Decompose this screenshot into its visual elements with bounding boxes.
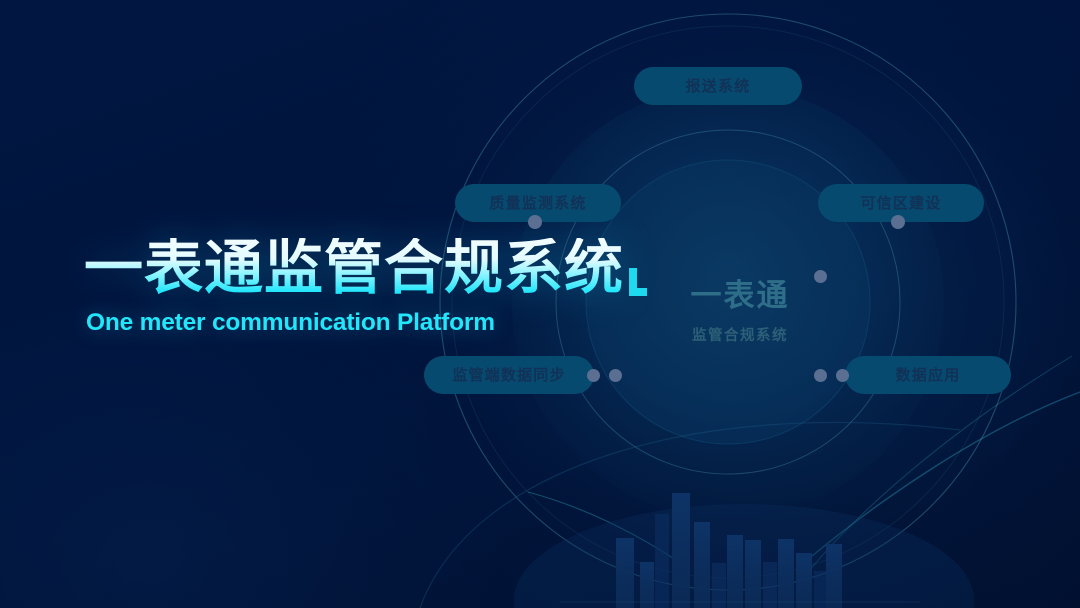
connector-dot-sync-outer — [587, 369, 600, 382]
connector-dot-hub-upper-right — [814, 270, 827, 283]
node-pill-quality-label: 质量监测系统 — [489, 196, 586, 211]
node-pill-sync-label: 监管端数据同步 — [452, 368, 565, 383]
connector-dot-dataapp-inner — [814, 369, 827, 382]
connector-dot-trusted — [891, 215, 905, 229]
node-pill-dataapp[interactable]: 数据应用 — [845, 356, 1011, 394]
node-pill-report-label: 报送系统 — [686, 79, 751, 94]
connector-dot-dataapp-outer — [836, 369, 849, 382]
node-pill-dataapp-label: 数据应用 — [896, 368, 961, 383]
page-subtitle: One meter communication Platform — [86, 309, 684, 337]
slide-root: 一表通监管合规系统 One meter communication Platfo… — [0, 0, 1080, 608]
connector-dot-quality — [528, 215, 542, 229]
node-pill-sync[interactable]: 监管端数据同步 — [424, 356, 594, 394]
connector-dot-sync-inner — [609, 369, 622, 382]
page-title: 一表通监管合规系统 — [84, 238, 684, 299]
headline-block: 一表通监管合规系统 One meter communication Platfo… — [84, 238, 684, 337]
node-pill-trusted-label: 可信区建设 — [860, 196, 941, 211]
node-pill-report[interactable]: 报送系统 — [634, 67, 802, 105]
